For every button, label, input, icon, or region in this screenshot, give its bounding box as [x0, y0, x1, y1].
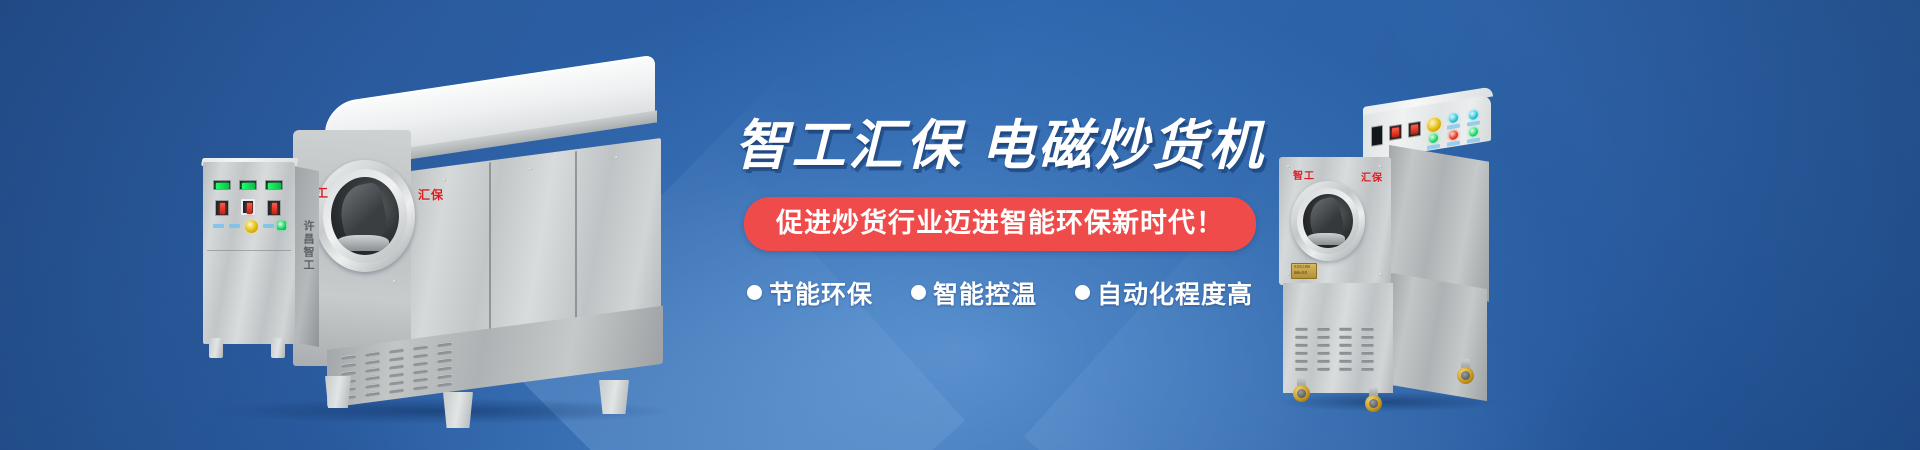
button-reverse[interactable] [1469, 127, 1478, 137]
meter-current[interactable] [1371, 125, 1383, 147]
feature-label: 自动化程度高 [1097, 275, 1253, 311]
button-stop[interactable] [1469, 110, 1478, 120]
machine-left-leg [443, 392, 473, 428]
screw [393, 280, 396, 283]
banner-copy: 智工汇保 电磁炒货机 促进炒货行业迈进智能环保新时代！ 节能环保 智能控温 自动… [700, 118, 1300, 311]
button-label-tag [1447, 141, 1460, 147]
filled-circle-bullet-icon [747, 285, 762, 300]
emergency-stop-knob[interactable] [245, 220, 258, 233]
display-time[interactable] [1408, 121, 1421, 138]
machine-left-drum-pan [337, 235, 389, 251]
screw [529, 167, 532, 170]
cabinet-leg [209, 338, 223, 358]
vent-group [1361, 327, 1374, 371]
machine-right-lower-side [1391, 273, 1487, 401]
machine-right-drum-opening [1303, 194, 1353, 248]
button-forward[interactable] [1449, 130, 1458, 140]
display-temperature[interactable] [1389, 124, 1402, 141]
switch-power[interactable] [267, 200, 281, 216]
caster-wheel [1457, 367, 1474, 384]
machine-right-small-roaster: 智工 汇保 许昌智工机械 电磁炒货机 [1265, 105, 1515, 410]
filled-circle-bullet-icon [911, 285, 926, 300]
button-label-tag [1427, 144, 1440, 150]
vent-group [1339, 327, 1352, 371]
machine-right-drum-pan [1307, 233, 1345, 245]
product-banner: 智工 汇保 许昌智工机械 电磁炒货机 [0, 0, 1920, 450]
emergency-stop-knob[interactable] [1427, 117, 1441, 133]
caster-wheel [1365, 395, 1382, 412]
control-label-tag [229, 224, 240, 228]
control-label-tag [213, 224, 224, 228]
button-label-tag [1447, 124, 1460, 130]
machine-left-large-roaster: 智工 汇保 许昌智工机械 电磁炒货机 [175, 100, 695, 420]
button-start[interactable] [1449, 113, 1458, 123]
feature-label: 智能控温 [933, 275, 1037, 311]
pilot-lamp-run [277, 221, 286, 230]
button-label-tag [1467, 137, 1480, 143]
vent-group [389, 348, 404, 394]
machine-right-brand-mark-right: 汇保 [1361, 169, 1383, 184]
machine-left-leg [325, 376, 351, 408]
cabinet-seam [207, 250, 291, 251]
machine-left-drum-inner-ring [323, 169, 407, 263]
machine-right-drum-ring [1291, 181, 1365, 261]
feature-item-3: 自动化程度高 [1075, 275, 1253, 311]
switch-heat[interactable] [215, 200, 229, 216]
filled-circle-bullet-icon [1075, 285, 1090, 300]
feature-label: 节能环保 [769, 275, 873, 311]
feature-item-2: 智能控温 [911, 275, 1037, 311]
machine-left-control-cabinet[interactable] [203, 162, 295, 344]
vent-group [437, 342, 452, 388]
machine-left-drum-ring [315, 160, 415, 272]
page-title: 智工汇保 电磁炒货机 [700, 118, 1300, 175]
button-heat[interactable] [1429, 133, 1438, 143]
vent-group [365, 351, 380, 397]
screw [1379, 165, 1382, 168]
control-label-tag [263, 224, 274, 228]
machine-left-leg [599, 380, 629, 414]
vent-group [1317, 327, 1330, 371]
display-time[interactable] [239, 180, 257, 190]
machine-left-vertical-brand: 许昌智工 [300, 220, 316, 272]
machine-left-brand-mark-right: 汇保 [418, 186, 444, 203]
caster-wheel [1293, 385, 1310, 402]
feature-list: 节能环保 智能控温 自动化程度高 [700, 275, 1300, 311]
button-label-tag [1467, 120, 1480, 126]
screw [443, 178, 446, 181]
switch-stir[interactable] [241, 199, 255, 215]
machine-left-drum-opening [331, 177, 399, 255]
vent-group [1295, 327, 1308, 371]
vent-group [413, 345, 428, 391]
subtitle-badge: 促进炒货行业迈进智能环保新时代！ [744, 197, 1256, 251]
cabinet-leg [271, 338, 285, 358]
screw [615, 156, 618, 159]
machine-right-drum-inner-ring [1297, 188, 1359, 254]
display-temperature[interactable] [213, 180, 231, 190]
display-speed[interactable] [265, 180, 283, 190]
feature-item-1: 节能环保 [747, 275, 873, 311]
screw [1379, 273, 1382, 276]
